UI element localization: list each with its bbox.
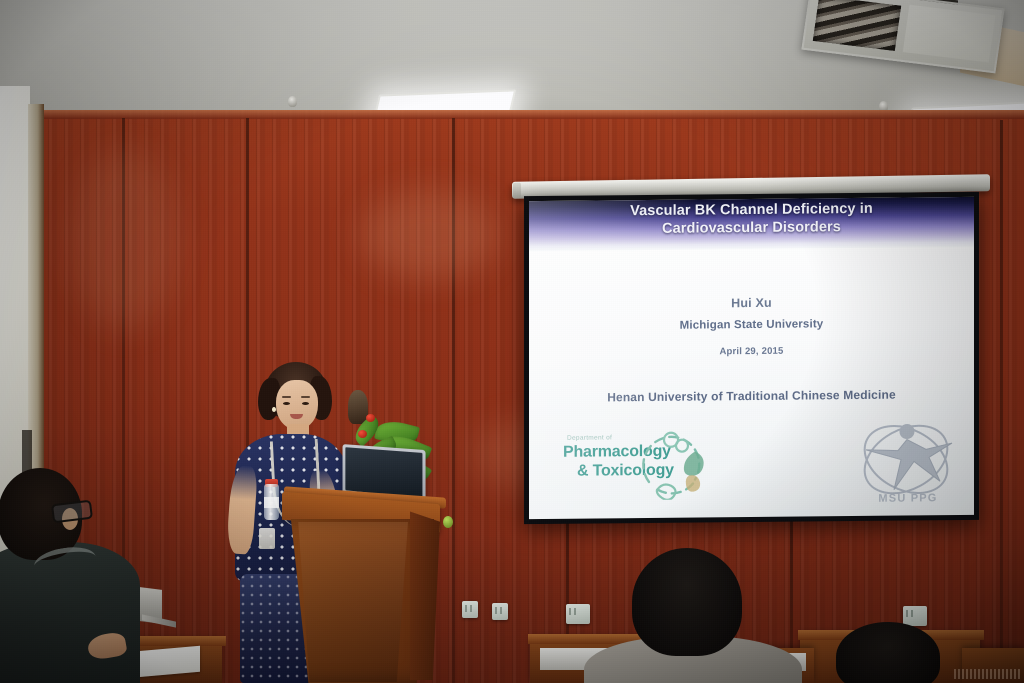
presentation-photo: Vascular BK Channel Deficiency in Cardio…: [0, 0, 1024, 683]
audience-member-left: [0, 468, 128, 683]
presenter-eyebrow: [301, 396, 310, 398]
ppg-logo-caption: MSU PPG: [856, 492, 960, 505]
plant-flower: [366, 414, 375, 422]
presenter-eye: [283, 402, 290, 405]
wall-seam: [452, 118, 455, 683]
ppg-figure-icon: [856, 419, 960, 498]
slide-date: April 29, 2015: [529, 344, 974, 359]
ceiling-sensor-left: [288, 96, 297, 107]
audience-head: [632, 548, 742, 656]
audience-member-right: [836, 622, 956, 683]
logo-circular-arrow-icon: [635, 429, 711, 500]
slide-affiliation: Michigan State University: [529, 317, 974, 333]
presenter-face: [276, 380, 318, 430]
slide-presenter-name: Hui Xu: [529, 294, 974, 312]
slide-surface: Vascular BK Channel Deficiency in Cardio…: [529, 197, 974, 519]
podium-indicator-light: [443, 516, 453, 528]
presenter-eyebrow: [282, 396, 291, 398]
watermark: [954, 669, 1020, 679]
presenter-earring: [272, 407, 276, 412]
ac-face-panel: [903, 5, 996, 63]
audience-head: [836, 622, 940, 683]
wall-outlet: [492, 603, 508, 620]
wall-seam: [1000, 120, 1003, 683]
wall-outlet: [566, 604, 590, 624]
logo-department-word: Department of: [567, 434, 612, 441]
ac-louver-grille: [813, 0, 901, 51]
podium-front-panel: [296, 522, 408, 682]
presenter-badge: [259, 528, 275, 549]
wall-top-trim: [0, 110, 1024, 119]
msu-ppg-logo: MSU PPG: [856, 419, 960, 506]
presenter-eye: [302, 402, 309, 405]
projection-screen: Vascular BK Channel Deficiency in Cardio…: [524, 192, 979, 524]
slide-title: Vascular BK Channel Deficiency in Cardio…: [529, 199, 974, 240]
slide-host-institution: Henan University of Traditional Chinese …: [529, 387, 974, 405]
laptop-screen: [345, 447, 422, 498]
plant-flower: [358, 430, 367, 438]
bottle-label: [264, 497, 279, 508]
valance-end-cap: [513, 183, 521, 198]
glasses-icon: [51, 500, 93, 524]
wall-outlet: [462, 601, 478, 618]
audience-member-center: [632, 548, 764, 683]
pharmacology-toxicology-logo: Department of Pharmacology & Toxicology: [557, 431, 707, 506]
